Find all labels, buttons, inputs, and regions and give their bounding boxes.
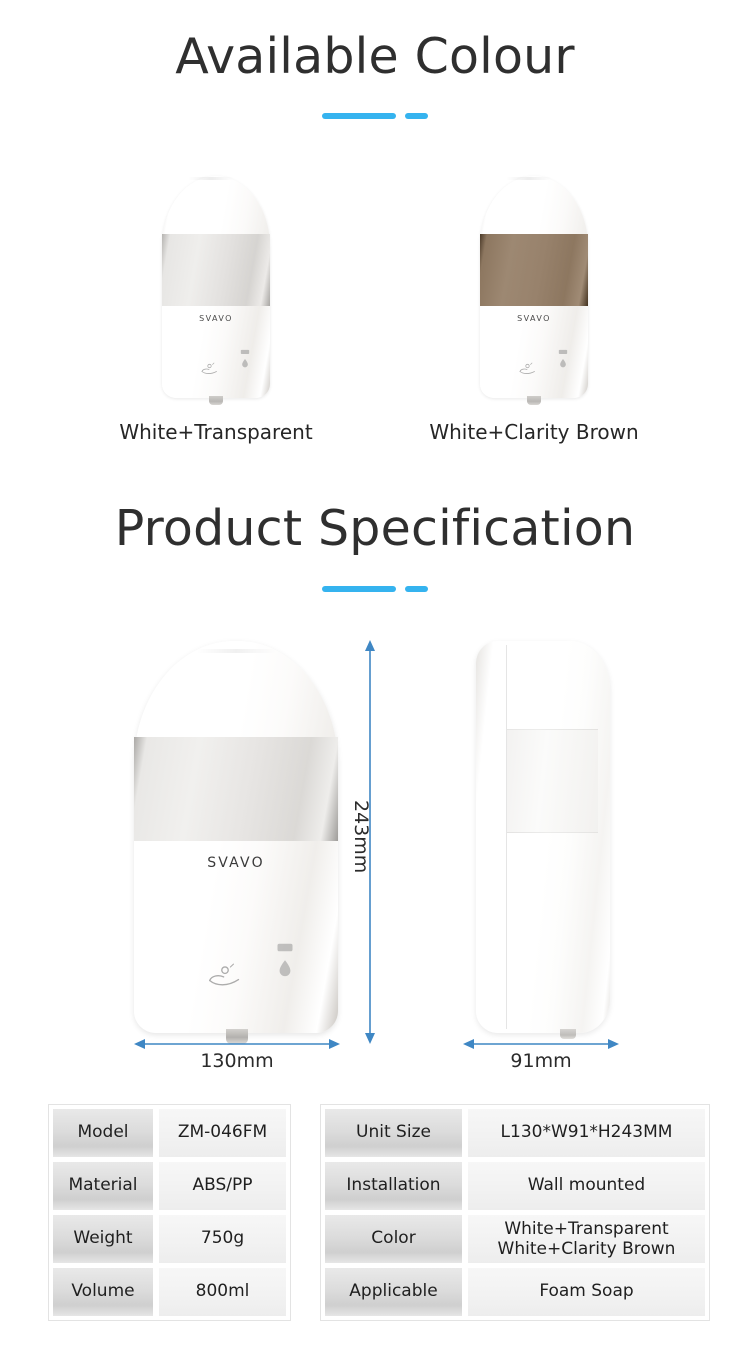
battery-and-droplet-indicator-icon	[558, 348, 568, 370]
dispenser-image-transparent: SVAVO	[154, 172, 278, 406]
spec-value: Wall mounted	[468, 1162, 705, 1210]
hand-sensor-icon	[207, 963, 243, 989]
dispenser-nozzle	[209, 396, 223, 405]
spec-key: Material	[53, 1162, 153, 1210]
divider-bar-long	[322, 586, 396, 592]
table-row: Installation Wall mounted	[325, 1162, 705, 1210]
spec-value: ABS/PP	[159, 1162, 286, 1210]
table-row: Weight 750g	[53, 1215, 286, 1263]
width-dimension-label: 130mm	[132, 1050, 342, 1072]
spec-key: Color	[325, 1215, 462, 1263]
dispenser-lid-seam	[188, 177, 234, 180]
brand-logo: SVAVO	[130, 855, 342, 871]
spec-value: L130*W91*H243MM	[468, 1109, 705, 1157]
spec-value: Foam Soap	[468, 1268, 705, 1316]
colour-variants-row: SVAVO White+Transparent	[0, 172, 750, 444]
spec-table-basic: Model ZM-046FM Material ABS/PP Weight 75…	[48, 1104, 291, 1321]
spec-value-line-1: White+Transparent	[498, 1219, 676, 1239]
spec-title-divider	[0, 586, 750, 592]
spec-key: Volume	[53, 1268, 153, 1316]
dispenser-image-clarity-brown: SVAVO	[472, 172, 596, 406]
spec-key: Installation	[325, 1162, 462, 1210]
spec-value-line-2: White+Clarity Brown	[498, 1239, 676, 1259]
divider-bar-short	[405, 586, 428, 592]
spec-table-details: Unit Size L130*W91*H243MM Installation W…	[320, 1104, 710, 1321]
dispenser-front-view: SVAVO	[130, 641, 342, 1041]
colour-variant-transparent[interactable]: SVAVO White+Transparent	[130, 172, 302, 444]
table-row: Material ABS/PP	[53, 1162, 286, 1210]
product-specification-title: Product Specification	[0, 504, 750, 553]
spec-key: Applicable	[325, 1268, 462, 1316]
colour-variant-clarity-brown[interactable]: SVAVO White+Clarity Brown	[448, 172, 620, 444]
table-row: Unit Size L130*W91*H243MM	[325, 1109, 705, 1157]
brand-logo: SVAVO	[154, 314, 278, 323]
height-dimension-label: 243mm	[350, 800, 372, 873]
hand-sensor-icon	[518, 362, 538, 376]
dispenser-lid-seam	[506, 177, 552, 180]
dispenser-nozzle	[527, 396, 541, 405]
battery-and-droplet-indicator-icon	[240, 348, 250, 370]
available-colour-title: Available Colour	[0, 32, 750, 81]
dispenser-window-transparent	[162, 234, 270, 306]
spec-key: Weight	[53, 1215, 153, 1263]
spec-key: Unit Size	[325, 1109, 462, 1157]
brand-logo: SVAVO	[472, 314, 596, 323]
dispenser-body-side	[476, 641, 610, 1033]
dispenser-window-brown	[480, 234, 588, 306]
spec-key: Model	[53, 1109, 153, 1157]
battery-and-droplet-indicator-icon	[276, 941, 294, 981]
spec-value: White+Transparent White+Clarity Brown	[468, 1215, 705, 1263]
depth-dimension-label: 91mm	[461, 1050, 621, 1072]
table-row: Model ZM-046FM	[53, 1109, 286, 1157]
dispenser-window-side	[507, 729, 598, 833]
spec-value: 800ml	[159, 1268, 286, 1316]
dispenser-window-transparent	[134, 737, 338, 841]
colour-variant-label: White+Transparent	[119, 420, 312, 444]
divider-bar-long	[322, 113, 396, 119]
spec-value: ZM-046FM	[159, 1109, 286, 1157]
table-row: Volume 800ml	[53, 1268, 286, 1316]
table-row: Applicable Foam Soap	[325, 1268, 705, 1316]
dispenser-lid-seam	[196, 649, 276, 653]
dispenser-side-seam	[506, 645, 507, 1029]
product-detail-page: Available Colour SVAVO	[0, 0, 750, 1359]
colour-variant-label: White+Clarity Brown	[429, 420, 638, 444]
spec-value: 750g	[159, 1215, 286, 1263]
colour-title-divider	[0, 113, 750, 119]
hand-sensor-icon	[200, 362, 220, 376]
divider-bar-short	[405, 113, 428, 119]
dispenser-side-view	[466, 641, 616, 1041]
table-row: Color White+Transparent White+Clarity Br…	[325, 1215, 705, 1263]
